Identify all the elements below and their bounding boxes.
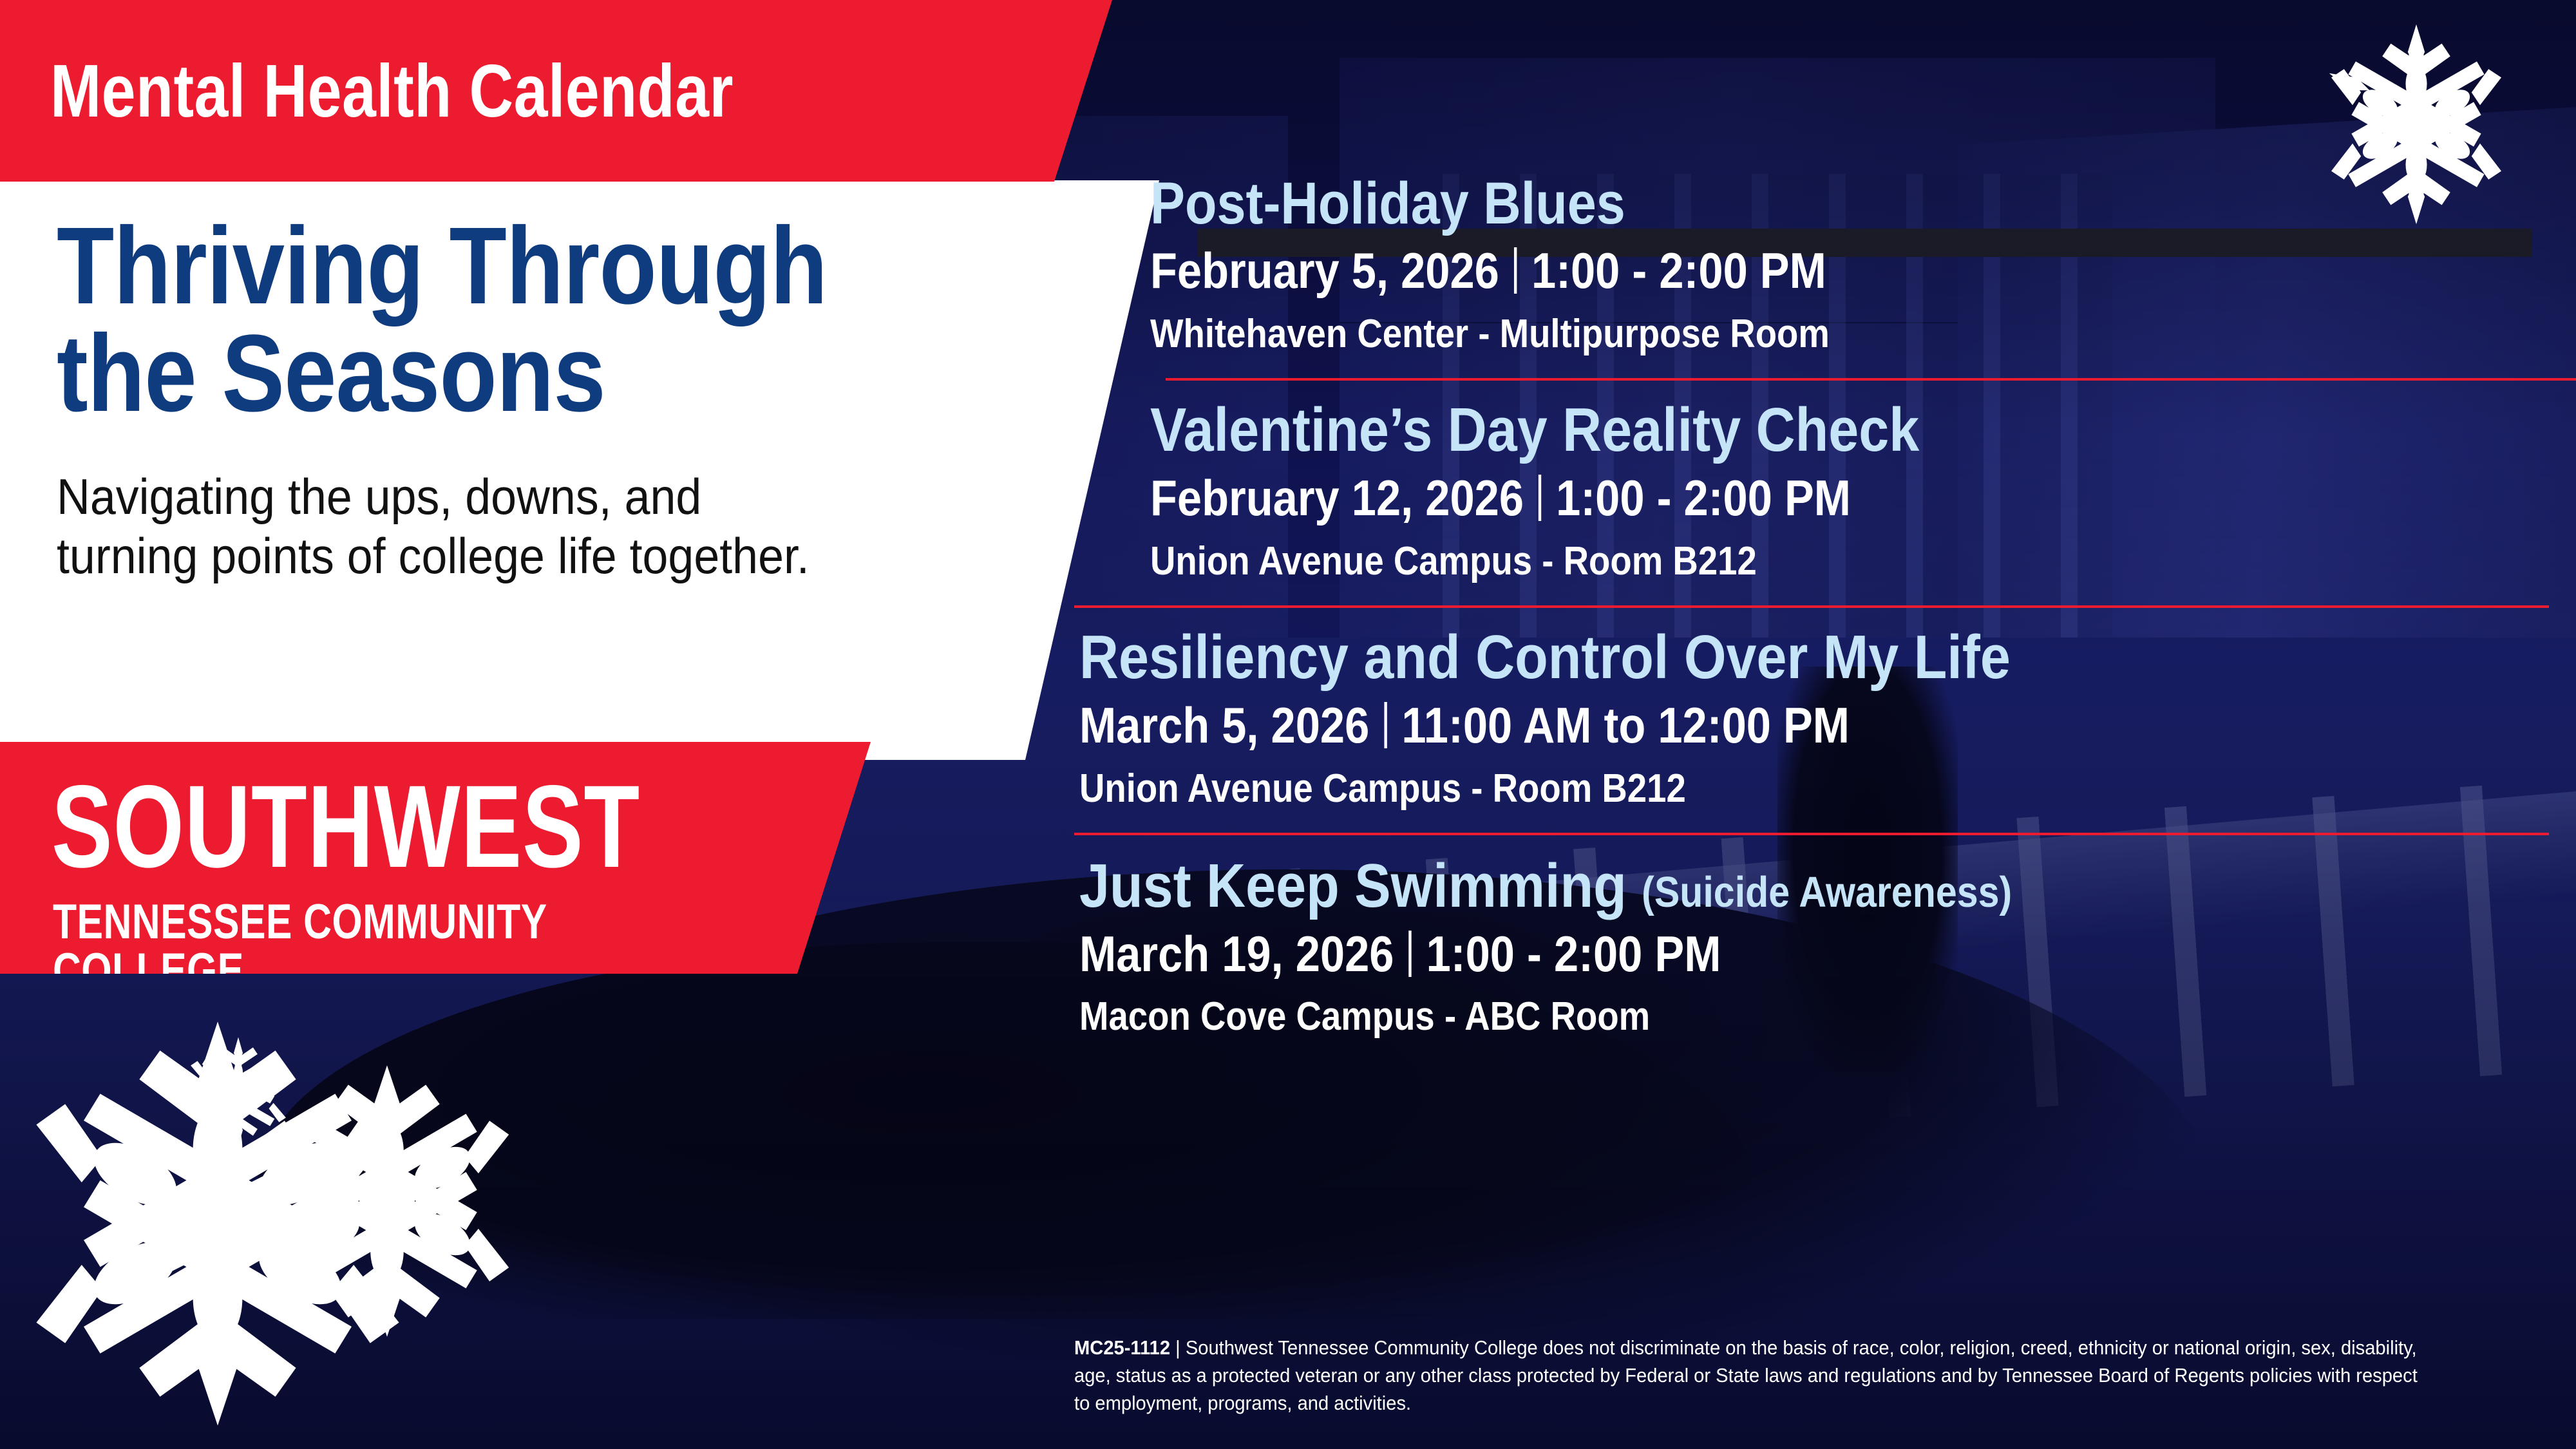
disclaimer-separator: |: [1170, 1336, 1186, 1359]
event-title: Post-Holiday Blues: [1150, 174, 2394, 234]
event-location: Whitehaven Center - Multipurpose Room: [1150, 313, 2394, 355]
event-title-text: Resiliency and Control Over My Life: [1079, 623, 2011, 692]
snowflake-icon: [249, 1056, 526, 1346]
event-divider: [1166, 378, 2576, 381]
event-item: Just Keep Swimming (Suicide Awareness) M…: [1072, 855, 2563, 1038]
disclaimer-code: MC25-1112: [1074, 1336, 1170, 1359]
event-date: March 5, 2026: [1079, 697, 1369, 753]
disclaimer-text: Southwest Tennessee Community College do…: [1074, 1336, 2418, 1414]
nondiscrimination-disclaimer: MC25-1112 | Southwest Tennessee Communit…: [1074, 1334, 2424, 1417]
date-time-separator: [1514, 247, 1517, 294]
event-datetime: March 19, 20261:00 - 2:00 PM: [1079, 928, 2385, 981]
event-item: Post-Holiday Blues February 5, 20261:00 …: [1150, 174, 2563, 381]
header-banner: Mental Health Calendar: [0, 0, 1133, 182]
event-date: February 12, 2026: [1150, 469, 1524, 526]
event-title: Resiliency and Control Over My Life: [1079, 626, 2385, 689]
banner-title: Mental Health Calendar: [50, 48, 734, 134]
poster-canvas: Mental Health Calendar Thriving Through …: [0, 0, 2576, 1449]
event-location: Macon Cove Campus - ABC Room: [1079, 996, 2385, 1037]
date-time-separator: [1408, 931, 1411, 977]
event-date: March 19, 2026: [1079, 925, 1394, 982]
event-datetime: February 5, 20261:00 - 2:00 PM: [1150, 245, 2394, 298]
event-time: 1:00 - 2:00 PM: [1531, 242, 1826, 299]
event-list: Post-Holiday Blues February 5, 20261:00 …: [1056, 174, 2563, 1041]
date-time-separator: [1539, 475, 1541, 521]
event-location: Union Avenue Campus - Room B212: [1079, 768, 2385, 810]
logo-wordmark: SOUTHWEST: [52, 768, 640, 885]
event-divider: [1074, 833, 2549, 835]
event-title-parenthetical: (Suicide Awareness): [1642, 868, 2012, 916]
college-logo-block: SOUTHWEST TENNESSEE COMMUNITY COLLEGE: [0, 742, 889, 974]
page-subtitle: Navigating the ups, downs, and turning p…: [57, 467, 1016, 585]
event-location: Union Avenue Campus - Room B212: [1150, 540, 2394, 582]
page-title: Thriving Through the Seasons: [57, 213, 954, 427]
event-title-text: Valentine’s Day Reality Check: [1150, 395, 1919, 464]
event-item: Resiliency and Control Over My Life Marc…: [1072, 626, 2563, 835]
event-datetime: March 5, 202611:00 AM to 12:00 PM: [1079, 699, 2385, 752]
event-item: Valentine’s Day Reality Check February 1…: [1072, 399, 2563, 608]
event-time: 1:00 - 2:00 PM: [1426, 925, 1721, 982]
event-title-text: Post-Holiday Blues: [1150, 171, 1625, 236]
event-divider: [1074, 605, 2549, 608]
event-time: 1:00 - 2:00 PM: [1556, 469, 1851, 526]
event-title: Just Keep Swimming (Suicide Awareness): [1079, 855, 2385, 918]
event-title-text: Just Keep Swimming: [1079, 851, 1642, 920]
event-title: Valentine’s Day Reality Check: [1150, 399, 2394, 462]
event-date: February 5, 2026: [1150, 242, 1499, 299]
date-time-separator: [1384, 702, 1387, 748]
event-time: 11:00 AM to 12:00 PM: [1401, 697, 1850, 753]
event-datetime: February 12, 20261:00 - 2:00 PM: [1150, 472, 2394, 525]
headline-block: Thriving Through the Seasons Navigating …: [57, 213, 1100, 585]
